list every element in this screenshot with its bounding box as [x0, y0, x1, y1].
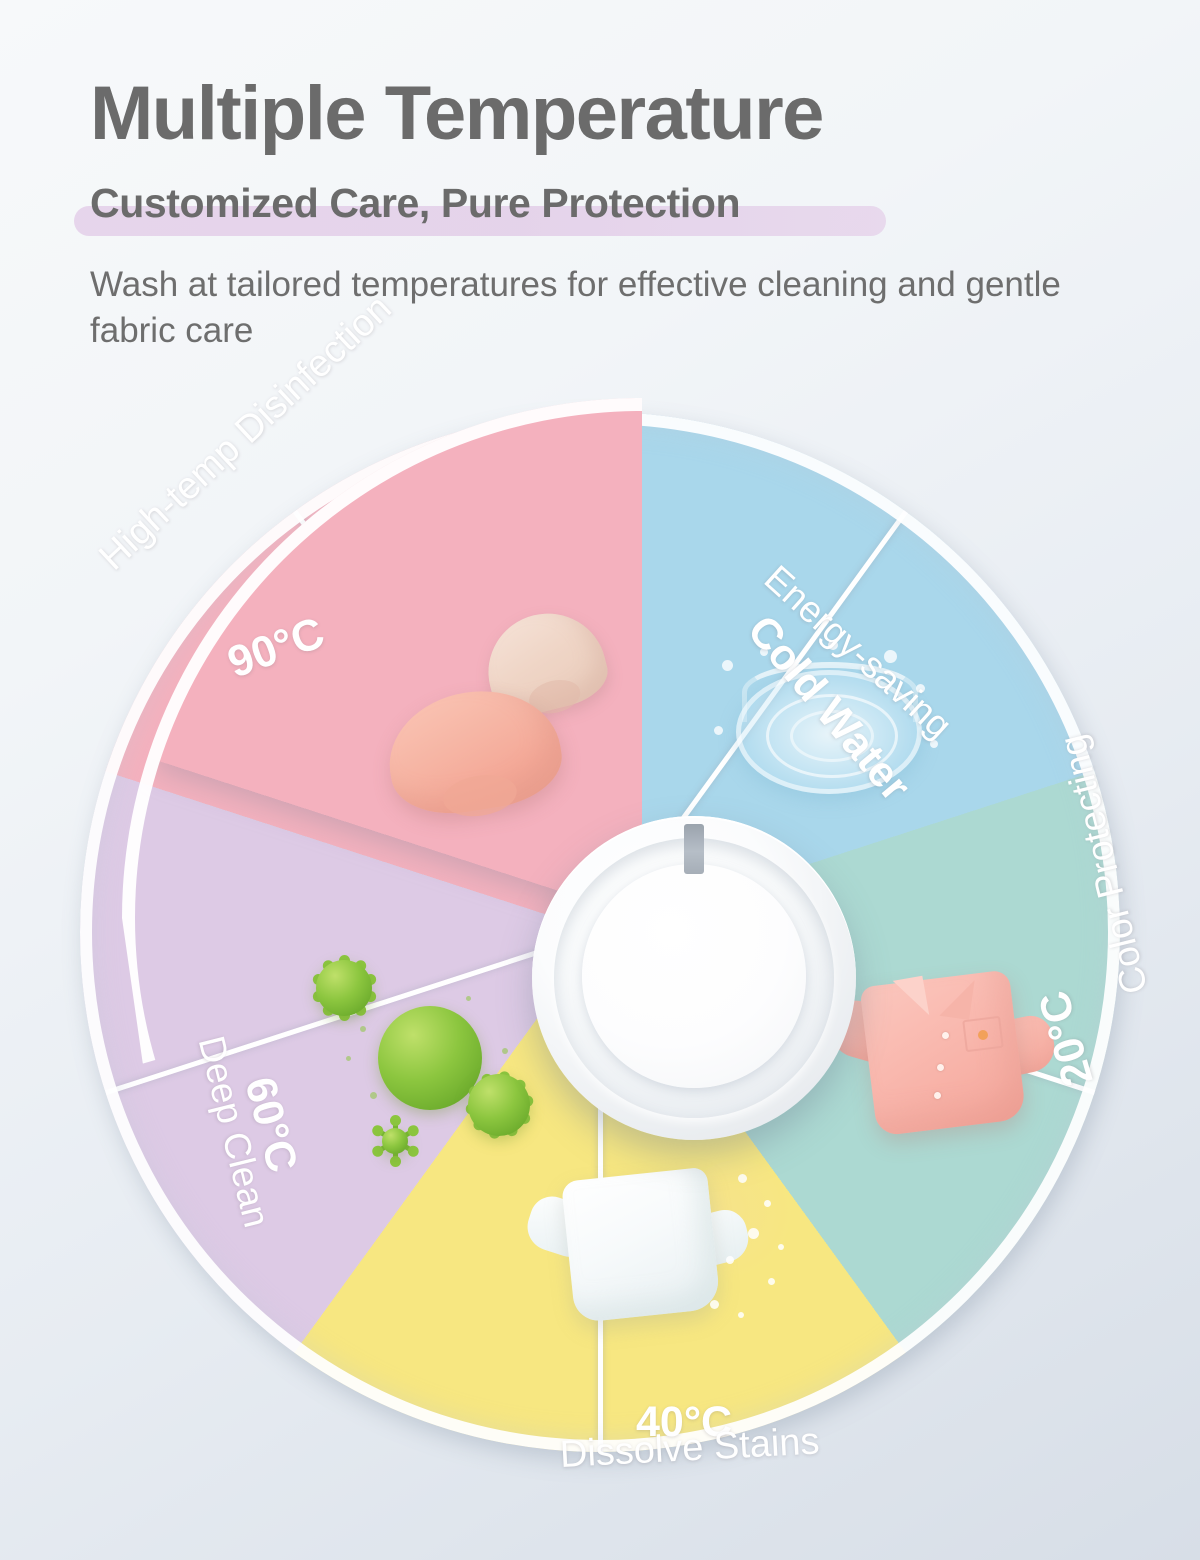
page-subtitle: Customized Care, Pure Protection	[90, 180, 1110, 227]
subtitle-block: Customized Care, Pure Protection	[90, 180, 1110, 232]
wheel-disc-container: High-temp Disinfection 90°C Energy-savin…	[80, 412, 1120, 1452]
temperature-wheel: High-temp Disinfection 90°C Energy-savin…	[0, 388, 1200, 1560]
page-title: Multiple Temperature	[90, 76, 1110, 152]
dial-pointer-marker	[684, 824, 704, 874]
dial-inner-face	[582, 864, 806, 1088]
page-description: Wash at tailored temperatures for effect…	[90, 262, 1090, 353]
header-block: Multiple Temperature Customized Care, Pu…	[90, 76, 1110, 353]
washing-machine-dial[interactable]	[532, 816, 856, 1140]
